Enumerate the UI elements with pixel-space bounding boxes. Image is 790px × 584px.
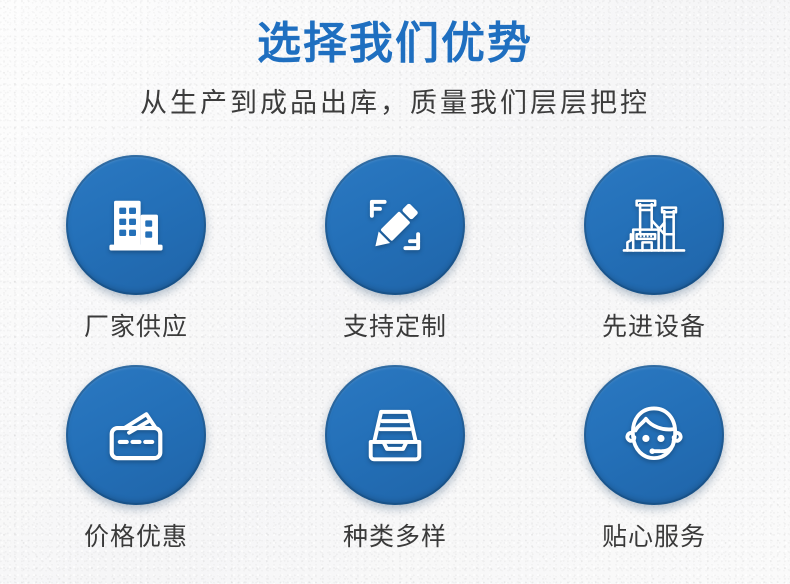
feature-icon-badge[interactable] (584, 155, 724, 295)
feature-item-caring-service[interactable]: 贴心服务 (584, 365, 724, 553)
pencil-customize-icon (358, 188, 432, 262)
feature-label: 贴心服务 (602, 517, 706, 553)
feature-label: 价格优惠 (84, 517, 188, 553)
page-title: 选择我们优势 (0, 16, 790, 71)
factory-icon (617, 188, 691, 262)
feature-icon-badge[interactable] (66, 155, 206, 295)
feature-item-variety[interactable]: 种类多样 (325, 365, 465, 553)
office-building-icon (99, 188, 173, 262)
headset-support-icon (617, 398, 691, 472)
page-subtitle: 从生产到成品出库，质量我们层层把控 (0, 81, 790, 120)
feature-label: 厂家供应 (84, 307, 188, 343)
feature-icon-badge[interactable] (584, 365, 724, 505)
feature-icon-badge[interactable] (325, 155, 465, 295)
file-tray-icon (358, 398, 432, 472)
feature-label: 支持定制 (343, 307, 447, 343)
feature-label: 种类多样 (343, 517, 447, 553)
feature-item-manufacturer-supply[interactable]: 厂家供应 (66, 155, 206, 343)
page-header: 选择我们优势 从生产到成品出库，质量我们层层把控 (0, 0, 790, 120)
feature-row: 厂家供应 (0, 155, 790, 343)
feature-row: 价格优惠 种类多样 (0, 365, 790, 553)
feature-grid: 厂家供应 (0, 155, 790, 553)
feature-item-advanced-equipment[interactable]: 先进设备 (584, 155, 724, 343)
wallet-cards-icon (99, 398, 173, 472)
feature-item-price-advantage[interactable]: 价格优惠 (66, 365, 206, 553)
feature-label: 先进设备 (602, 307, 706, 343)
feature-icon-badge[interactable] (66, 365, 206, 505)
feature-icon-badge[interactable] (325, 365, 465, 505)
feature-item-custom-support[interactable]: 支持定制 (325, 155, 465, 343)
promo-page: 选择我们优势 从生产到成品出库，质量我们层层把控 (0, 0, 790, 584)
